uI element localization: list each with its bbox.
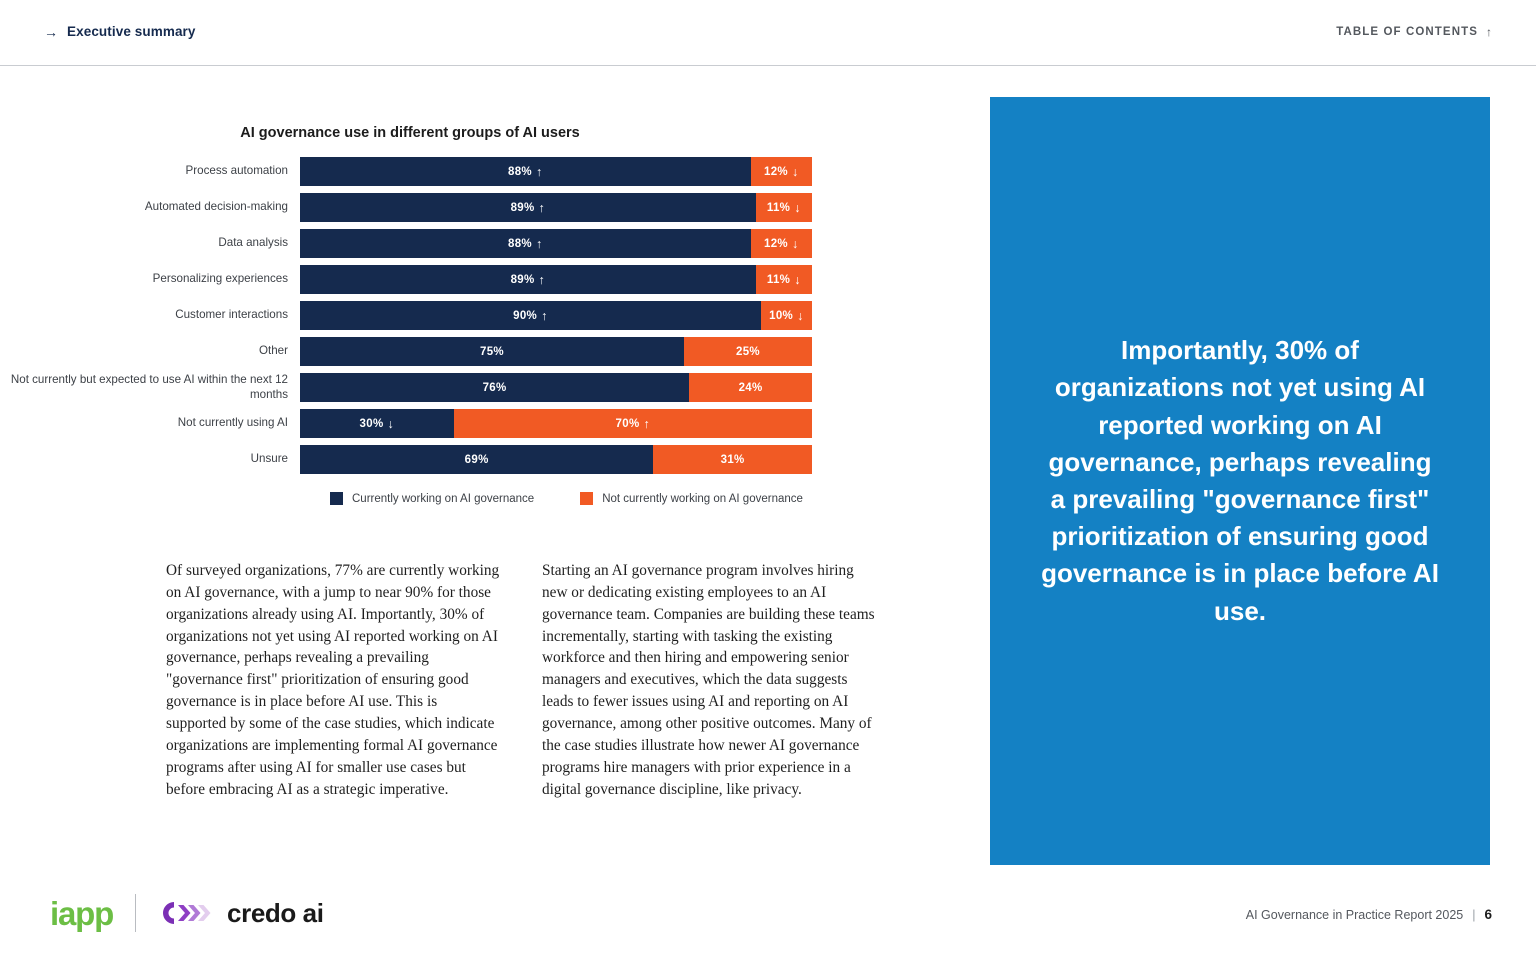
table-of-contents-label: TABLE OF CONTENTS	[1336, 26, 1478, 38]
trend-up-icon: ↑	[643, 417, 650, 431]
bar-category-label: Unsure	[0, 452, 300, 466]
report-name: AI Governance in Practice Report 2025	[1246, 908, 1463, 922]
bar-value-label: 31%	[721, 454, 745, 466]
bar-row: Automated decision-making89%↑11%↓	[0, 193, 900, 222]
chart-title: AI governance use in different groups of…	[60, 125, 760, 141]
bar-value-label: 89%	[511, 274, 535, 286]
bar-segment-not-currently: 12%↓	[751, 157, 812, 186]
bar-value-label: 11%	[767, 274, 790, 286]
credo-ai-logo: credo ai	[158, 898, 324, 928]
bar-segment-not-currently: 70%↑	[454, 409, 812, 438]
iapp-logo: iapp	[50, 897, 113, 930]
legend-item: Currently working on AI governance	[330, 492, 534, 505]
bar-row: Not currently but expected to use AI wit…	[0, 373, 900, 402]
bar-segment-not-currently: 31%	[653, 445, 812, 474]
bar-track: 76%24%	[300, 373, 812, 402]
bar-value-label: 88%	[508, 238, 532, 250]
pullquote-panel: Importantly, 30% of organizations not ye…	[990, 97, 1490, 865]
bar-track: 30%↓70%↑	[300, 409, 812, 438]
bar-segment-not-currently: 10%↓	[761, 301, 812, 330]
bar-row: Customer interactions90%↑10%↓	[0, 301, 900, 330]
trend-up-icon: ↑	[539, 201, 546, 215]
bar-value-label: 70%	[616, 418, 640, 430]
bar-segment-not-currently: 12%↓	[751, 229, 812, 258]
bar-chart-rows: Process automation88%↑12%↓Automated deci…	[0, 157, 900, 474]
bar-track: 75%25%	[300, 337, 812, 366]
bar-category-label: Automated decision-making	[0, 200, 300, 214]
bar-segment-currently: 30%↓	[300, 409, 454, 438]
footer-separator: |	[1472, 908, 1475, 922]
trend-down-icon: ↓	[797, 309, 804, 323]
bar-category-label: Other	[0, 344, 300, 358]
bar-track: 88%↑12%↓	[300, 229, 812, 258]
bar-value-label: 89%	[511, 202, 535, 214]
bar-row: Other75%25%	[0, 337, 900, 366]
bar-segment-currently: 89%↑	[300, 193, 756, 222]
bar-row: Process automation88%↑12%↓	[0, 157, 900, 186]
bar-segment-not-currently: 25%	[684, 337, 812, 366]
trend-down-icon: ↓	[387, 417, 394, 431]
bar-value-label: 69%	[465, 454, 489, 466]
credo-chevron-icon	[158, 898, 216, 928]
bar-category-label: Customer interactions	[0, 308, 300, 322]
table-of-contents-link[interactable]: TABLE OF CONTENTS ↑	[1336, 26, 1492, 38]
trend-up-icon: ↑	[536, 237, 543, 251]
bar-segment-not-currently: 11%↓	[756, 193, 812, 222]
logo-divider	[135, 894, 136, 932]
trend-up-icon: ↑	[539, 273, 546, 287]
trend-down-icon: ↓	[792, 165, 799, 179]
bar-segment-not-currently: 24%	[689, 373, 812, 402]
bar-row: Unsure69%31%	[0, 445, 900, 474]
bar-value-label: 30%	[360, 418, 384, 430]
bar-segment-currently: 69%	[300, 445, 653, 474]
bar-category-label: Personalizing experiences	[0, 272, 300, 286]
bar-value-label: 75%	[480, 346, 504, 358]
bar-category-label: Data analysis	[0, 236, 300, 250]
footer-logos: iapp credo ai	[50, 894, 324, 932]
bar-value-label: 11%	[767, 202, 790, 214]
legend-swatch	[330, 492, 343, 505]
bar-row: Data analysis88%↑12%↓	[0, 229, 900, 258]
legend-label: Currently working on AI governance	[352, 493, 534, 505]
bar-segment-not-currently: 11%↓	[756, 265, 812, 294]
bar-value-label: 10%	[769, 310, 793, 322]
bar-value-label: 12%	[764, 166, 788, 178]
trend-up-icon: ↑	[536, 165, 543, 179]
breadcrumb[interactable]: → Executive summary	[44, 24, 196, 39]
bar-track: 89%↑11%↓	[300, 265, 812, 294]
bar-value-label: 12%	[764, 238, 788, 250]
bar-value-label: 90%	[513, 310, 537, 322]
legend-item: Not currently working on AI governance	[580, 492, 803, 505]
bar-segment-currently: 75%	[300, 337, 684, 366]
bar-value-label: 88%	[508, 166, 532, 178]
bar-track: 89%↑11%↓	[300, 193, 812, 222]
page-header: → Executive summary TABLE OF CONTENTS ↑	[0, 0, 1536, 66]
arrow-up-icon: ↑	[1486, 26, 1492, 38]
trend-down-icon: ↓	[794, 273, 801, 287]
page-footer: iapp credo ai AI Governance in Practice …	[0, 864, 1536, 960]
bar-row: Personalizing experiences89%↑11%↓	[0, 265, 900, 294]
bar-track: 88%↑12%↓	[300, 157, 812, 186]
bar-row: Not currently using AI30%↓70%↑	[0, 409, 900, 438]
bar-segment-currently: 88%↑	[300, 157, 751, 186]
chart-container: AI governance use in different groups of…	[0, 125, 900, 505]
bar-category-label: Not currently but expected to use AI wit…	[0, 373, 300, 401]
bar-value-label: 25%	[736, 346, 760, 358]
bar-value-label: 24%	[739, 382, 763, 394]
bar-segment-currently: 89%↑	[300, 265, 756, 294]
legend-swatch	[580, 492, 593, 505]
bar-category-label: Process automation	[0, 164, 300, 178]
bar-category-label: Not currently using AI	[0, 416, 300, 430]
bar-track: 69%31%	[300, 445, 812, 474]
chart-legend: Currently working on AI governanceNot cu…	[330, 492, 900, 505]
bar-segment-currently: 88%↑	[300, 229, 751, 258]
body-text: Of surveyed organizations, 77% are curre…	[166, 560, 876, 800]
bar-segment-currently: 90%↑	[300, 301, 761, 330]
page-number: 6	[1484, 907, 1492, 922]
trend-down-icon: ↓	[792, 237, 799, 251]
legend-label: Not currently working on AI governance	[602, 493, 803, 505]
bar-segment-currently: 76%	[300, 373, 689, 402]
arrow-right-icon: →	[44, 25, 58, 39]
bar-track: 90%↑10%↓	[300, 301, 812, 330]
trend-down-icon: ↓	[794, 201, 801, 215]
bar-value-label: 76%	[483, 382, 507, 394]
report-page: → Executive summary TABLE OF CONTENTS ↑ …	[0, 0, 1536, 960]
breadcrumb-label: Executive summary	[67, 24, 196, 39]
credo-ai-label: credo ai	[227, 900, 324, 926]
body-column-2: Starting an AI governance program involv…	[542, 560, 876, 800]
trend-up-icon: ↑	[541, 309, 548, 323]
pullquote-text: Importantly, 30% of organizations not ye…	[1040, 332, 1440, 629]
footer-meta: AI Governance in Practice Report 2025 | …	[1246, 907, 1492, 922]
body-column-1: Of surveyed organizations, 77% are curre…	[166, 560, 500, 800]
